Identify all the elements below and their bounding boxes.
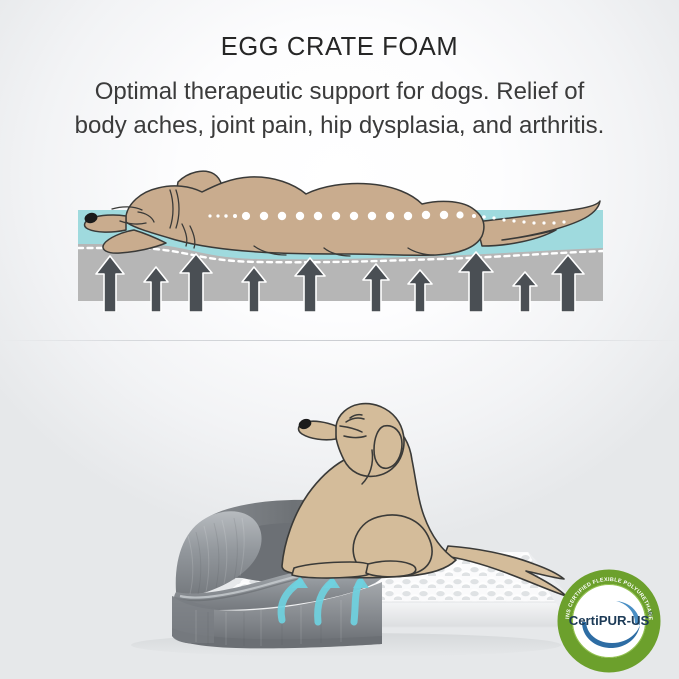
- panel-egg-crate-foam: EGG CRATE FOAM Optimal therapeutic suppo…: [0, 0, 679, 341]
- pressure-arrow: [513, 272, 537, 312]
- subtitle-line-2: body aches, joint pain, hip dysplasia, a…: [0, 109, 679, 143]
- badge-main-text: CertiPUR-US: [569, 613, 650, 628]
- product-feature-infographic: EGG CRATE FOAM Optimal therapeutic suppo…: [0, 0, 679, 679]
- pressure-arrow: [144, 267, 168, 312]
- pressure-arrow: [459, 252, 493, 312]
- certipur-us-badge: CONTAINS CERTIFIED FLEXIBLE POLYURETHANE…: [556, 568, 662, 674]
- pressure-arrow: [242, 267, 266, 312]
- pressure-arrow: [180, 254, 212, 312]
- pressure-arrow: [552, 255, 584, 312]
- subtitle-text: Optimal therapeutic support for dogs. Re…: [0, 75, 679, 143]
- pressure-support-arrows: [78, 244, 603, 312]
- pressure-arrow: [408, 270, 432, 312]
- dog-illustration-resting: [282, 404, 566, 596]
- pressure-arrow: [96, 256, 124, 312]
- illustration-bolster-bed-airflow: [96, 396, 596, 661]
- subtitle-line-1: Optimal therapeutic support for dogs. Re…: [0, 75, 679, 109]
- illustration-foam-cutaway: [78, 160, 603, 312]
- page-title-egg-crate-foam: EGG CRATE FOAM: [0, 33, 679, 62]
- pressure-arrow: [363, 264, 389, 312]
- registered-mark: ®: [648, 611, 653, 618]
- pressure-arrow: [295, 258, 325, 312]
